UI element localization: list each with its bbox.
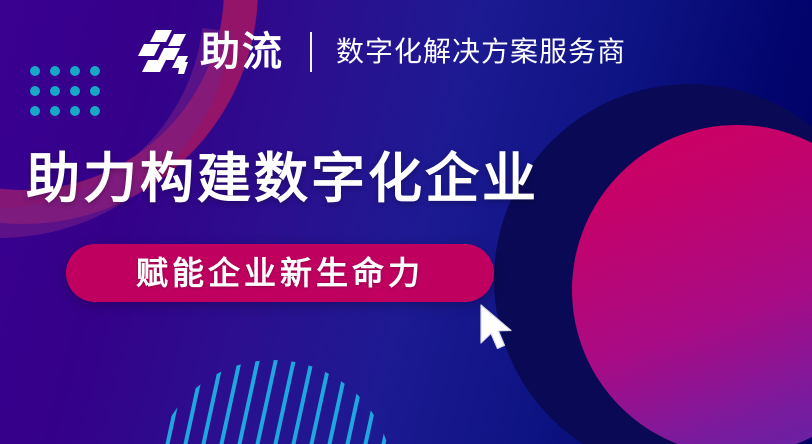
navy-circle-decoration	[494, 84, 812, 444]
headline: 助力构建数字化企业	[26, 150, 539, 209]
brand-wordmark: 助流	[200, 32, 284, 72]
grid-dot	[70, 86, 80, 96]
grid-dot	[30, 106, 40, 116]
cta-pill-label: 赋能企业新生命力	[136, 257, 424, 289]
grid-dot	[50, 86, 60, 96]
grid-dot	[90, 66, 100, 76]
grid-dot	[30, 86, 40, 96]
brand-tagline: 数字化解决方案服务商	[336, 38, 626, 66]
mouse-pointer-cursor	[478, 303, 520, 353]
promo-banner: 助流 数字化解决方案服务商 助力构建数字化企业 赋能企业新生命力	[0, 0, 812, 444]
teal-dot-grid-decoration	[30, 66, 110, 126]
cyan-line-fan-decoration	[108, 340, 438, 444]
grid-dot	[30, 66, 40, 76]
zhuliu-flow-logo-icon	[138, 28, 190, 76]
grid-dot	[50, 106, 60, 116]
grid-dot	[50, 66, 60, 76]
cta-pill-button[interactable]: 赋能企业新生命力	[66, 244, 494, 302]
grid-dot	[70, 106, 80, 116]
logo-divider	[310, 32, 312, 72]
grid-dot	[90, 86, 100, 96]
magenta-circle-decoration	[572, 125, 812, 444]
grid-dot	[90, 106, 100, 116]
grid-dot	[70, 66, 80, 76]
brand-logo-row: 助流 数字化解决方案服务商	[138, 24, 626, 80]
